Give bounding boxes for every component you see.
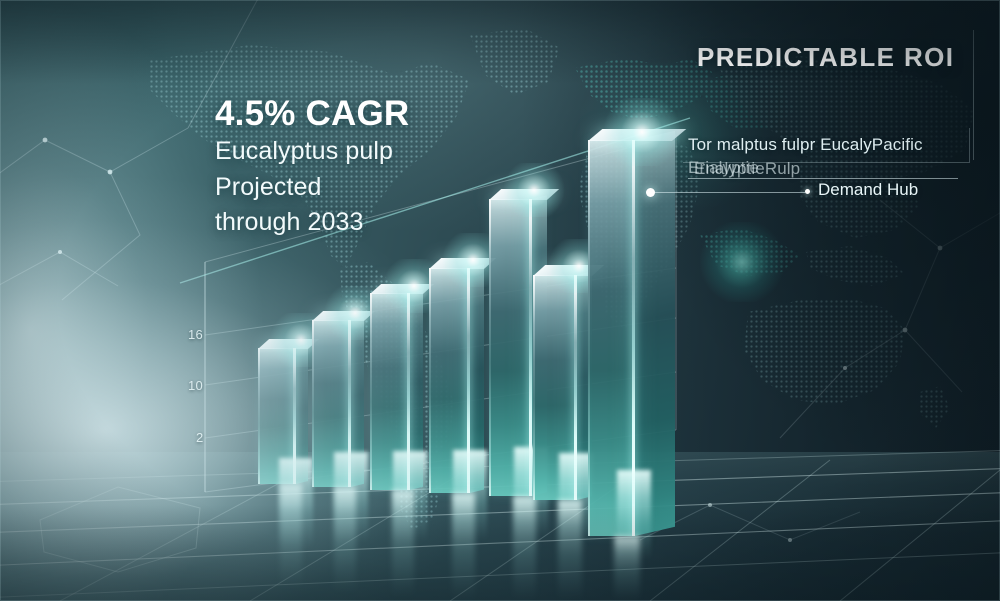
bar-5-reflection bbox=[513, 496, 536, 601]
bar-1-glow-edge bbox=[293, 348, 296, 484]
demand-hub-leader-dot bbox=[805, 189, 810, 194]
bar-6-reflection bbox=[558, 500, 582, 601]
bar-5-left-edge bbox=[489, 199, 491, 496]
cagr-line-1: Eucalyptus pulp bbox=[215, 137, 409, 167]
bar-2-glow-edge bbox=[348, 320, 351, 487]
cagr-line-2: Projected bbox=[215, 173, 409, 203]
bar-3-cap bbox=[370, 284, 434, 294]
bar-5-face bbox=[489, 199, 532, 496]
bar-7-glow-edge bbox=[632, 140, 635, 536]
bar-3-face bbox=[370, 293, 410, 490]
demand-hub-leader-line bbox=[655, 192, 805, 193]
cagr-callout: 4.5% CAGR Eucalyptus pulp Projected thro… bbox=[215, 96, 409, 238]
bar-4-left-edge bbox=[429, 268, 431, 493]
bar-1 bbox=[258, 348, 296, 484]
bar-1-face bbox=[258, 348, 296, 484]
cagr-line-3: through 2033 bbox=[215, 208, 409, 238]
bar-3-reflection bbox=[392, 490, 414, 598]
bar-2-face bbox=[312, 320, 351, 487]
garbled-callout-line-2: EnalyptieRulp bbox=[694, 159, 800, 179]
bar-4-face bbox=[429, 268, 470, 493]
bar-1-side bbox=[296, 345, 308, 484]
bar-2-side bbox=[351, 317, 364, 487]
bar-5-cap bbox=[489, 189, 559, 200]
bar-2-left-edge bbox=[312, 320, 314, 487]
bar-4-reflection bbox=[452, 493, 475, 601]
bar-4-side bbox=[470, 265, 484, 493]
y-axis-tick-2: 2 bbox=[196, 430, 204, 445]
infographic-canvas: 16 10 2 4.5% CAGR Eucalyptus pulp Projec… bbox=[0, 0, 1000, 601]
bar-4-glow-edge bbox=[467, 268, 470, 493]
bar-6-face bbox=[533, 275, 577, 500]
bar-3-glow-edge bbox=[407, 293, 410, 490]
bar-7-left-edge bbox=[588, 140, 590, 536]
cagr-headline: 4.5% CAGR bbox=[215, 96, 409, 131]
bar-2-cap bbox=[312, 311, 375, 321]
bar-3-left-edge bbox=[370, 293, 372, 490]
demand-hub-marker-dot[interactable] bbox=[646, 188, 655, 197]
bar-3 bbox=[370, 293, 410, 490]
bar-5 bbox=[489, 199, 532, 496]
y-axis-tick-16: 16 bbox=[188, 327, 203, 342]
bar-7-face bbox=[588, 140, 635, 536]
bar-7-reflection bbox=[614, 536, 640, 601]
bar-1-cap bbox=[258, 339, 319, 349]
bar-1-reflection bbox=[280, 484, 302, 588]
bar-6-glow-edge bbox=[574, 275, 577, 500]
bar-6 bbox=[533, 275, 577, 500]
demand-hub-label: Demand Hub bbox=[818, 180, 918, 200]
bar-6-left-edge bbox=[533, 275, 535, 500]
bar-7 bbox=[588, 140, 635, 536]
y-axis-tick-10: 10 bbox=[188, 378, 203, 393]
bar-5-glow-edge bbox=[529, 199, 532, 496]
bar-4-cap bbox=[429, 258, 496, 269]
bar-7-cap bbox=[588, 129, 686, 141]
garbled-callout-line-1: Tor malptus fulpr EucalyPacific bbox=[688, 135, 923, 155]
bar-4 bbox=[429, 268, 470, 493]
bar-1-left-edge bbox=[258, 348, 260, 484]
bar-3-side bbox=[410, 290, 423, 490]
demand-hub-leader-line-2 bbox=[688, 178, 958, 179]
bar-2-reflection bbox=[334, 487, 356, 593]
bar-2 bbox=[312, 320, 351, 487]
